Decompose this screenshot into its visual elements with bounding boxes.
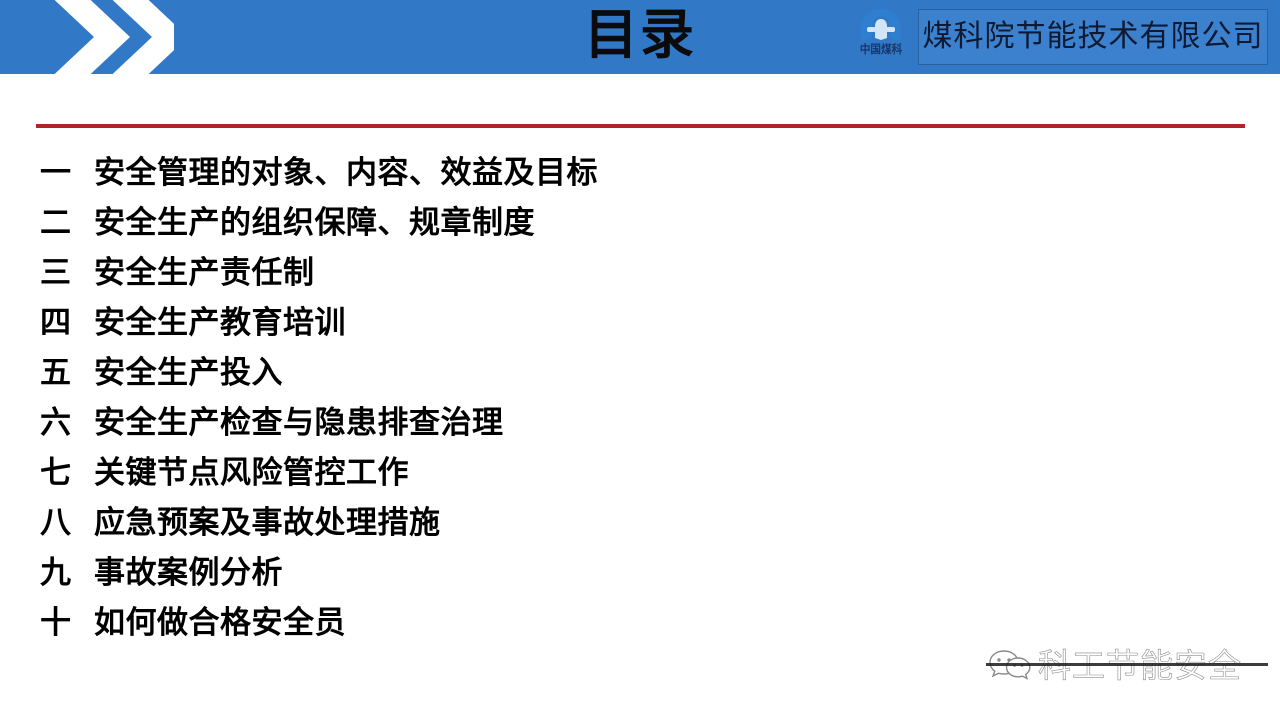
brand-logo-text: 中国煤科 — [860, 44, 902, 56]
list-item[interactable]: 八 应急预案及事故处理措施 — [40, 508, 1230, 558]
list-item[interactable]: 四 安全生产教育培训 — [40, 308, 1230, 358]
list-item-label: 事故案例分析 — [94, 558, 283, 589]
brand-logo: 中国煤科 — [848, 7, 914, 69]
slide-header: 目录 中国煤科 煤科院节能技术有限公司 — [0, 0, 1280, 74]
list-item[interactable]: 五 安全生产投入 — [40, 358, 1230, 408]
list-item-number: 三 — [40, 258, 94, 289]
list-item-number: 二 — [40, 208, 94, 239]
title-divider — [36, 124, 1245, 128]
watermark-strikethrough — [986, 663, 1268, 666]
slide: 目录 中国煤科 煤科院节能技术有限公司 一 安全管理的对象、内容、效益及目标 — [0, 0, 1280, 720]
list-item-label: 安全生产责任制 — [94, 258, 315, 289]
list-item[interactable]: 一 安全管理的对象、内容、效益及目标 — [40, 158, 1230, 208]
list-item[interactable]: 三 安全生产责任制 — [40, 258, 1230, 308]
list-item-label: 安全生产的组织保障、规章制度 — [94, 208, 535, 239]
list-item-number: 一 — [40, 158, 94, 189]
list-item[interactable]: 七 关键节点风险管控工作 — [40, 458, 1230, 508]
list-item-number: 六 — [40, 408, 94, 439]
list-item-label: 安全管理的对象、内容、效益及目标 — [94, 158, 598, 189]
list-item-label: 应急预案及事故处理措施 — [94, 508, 441, 539]
list-item-number: 七 — [40, 458, 94, 489]
list-item-label: 关键节点风险管控工作 — [94, 458, 409, 489]
table-of-contents: 一 安全管理的对象、内容、效益及目标 二 安全生产的组织保障、规章制度 三 安全… — [40, 158, 1230, 658]
list-item[interactable]: 九 事故案例分析 — [40, 558, 1230, 608]
list-item-number: 四 — [40, 308, 94, 339]
list-item[interactable]: 六 安全生产检查与隐患排查治理 — [40, 408, 1230, 458]
list-item-label: 如何做合格安全员 — [94, 608, 346, 639]
list-item-label: 安全生产教育培训 — [94, 308, 346, 339]
list-item-number: 五 — [40, 358, 94, 389]
list-item[interactable]: 二 安全生产的组织保障、规章制度 — [40, 208, 1230, 258]
list-item-number: 八 — [40, 508, 94, 539]
list-item-label: 安全生产检查与隐患排查治理 — [94, 408, 504, 439]
company-name: 煤科院节能技术有限公司 — [923, 22, 1264, 52]
company-name-box: 煤科院节能技术有限公司 — [918, 9, 1268, 65]
list-item-number: 十 — [40, 608, 94, 639]
list-item-number: 九 — [40, 558, 94, 589]
china-coal-logo-icon — [858, 7, 904, 43]
list-item-label: 安全生产投入 — [94, 358, 283, 389]
